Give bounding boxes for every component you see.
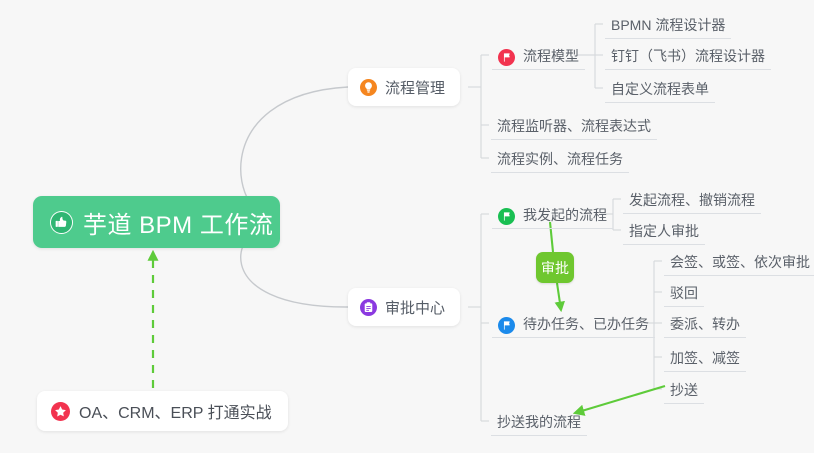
node-cc[interactable]: 抄送 <box>664 376 704 404</box>
node-process-model[interactable]: 流程模型 <box>492 42 585 70</box>
star-icon <box>51 402 70 421</box>
approval-tag: 审批 <box>536 252 574 283</box>
branch-process-management-label: 流程管理 <box>385 77 445 98</box>
lightbulb-icon <box>360 79 377 96</box>
node-add-remove-sign[interactable]: 加签、减签 <box>664 344 746 372</box>
thumbs-up-icon <box>50 211 73 234</box>
flag-icon <box>498 208 515 225</box>
arrow-approval-lower <box>557 283 561 310</box>
node-dingtalk-designer[interactable]: 钉钉（飞书）流程设计器 <box>605 42 771 70</box>
node-todo-done-tasks-label: 待办任务、已办任务 <box>523 314 649 334</box>
node-cc-label: 抄送 <box>670 380 698 400</box>
branch-approval-center-label: 审批中心 <box>385 297 445 318</box>
node-designated-approver[interactable]: 指定人审批 <box>623 217 705 245</box>
mindmap-canvas: 芋道 BPM 工作流 流程管理 流程模型 BPMN 流程设计器 钉钉（飞书）流程… <box>0 0 814 453</box>
node-reject-label: 驳回 <box>670 283 698 303</box>
node-my-started-processes-label: 我发起的流程 <box>523 205 607 225</box>
node-countersign-modes[interactable]: 会签、或签、依次审批 <box>664 248 814 276</box>
footnote-node[interactable]: OA、CRM、ERP 打通实战 <box>37 391 288 431</box>
node-delegate-transfer-label: 委派、转办 <box>670 314 740 334</box>
node-process-listener-expression-label: 流程监听器、流程表达式 <box>497 116 651 136</box>
clipboard-icon <box>360 299 377 316</box>
arrow-cc-to-cc-my-processes <box>575 386 665 413</box>
root-label: 芋道 BPM 工作流 <box>83 205 273 240</box>
flag-icon <box>498 49 515 66</box>
node-process-instance-task[interactable]: 流程实例、流程任务 <box>491 145 629 173</box>
node-custom-form-label: 自定义流程表单 <box>611 79 709 99</box>
approval-tag-label: 审批 <box>541 258 569 278</box>
node-bpmn-designer[interactable]: BPMN 流程设计器 <box>605 11 731 39</box>
node-bpmn-designer-label: BPMN 流程设计器 <box>611 15 725 35</box>
branch-process-management[interactable]: 流程管理 <box>348 68 460 106</box>
node-process-model-label: 流程模型 <box>523 46 579 66</box>
node-delegate-transfer[interactable]: 委派、转办 <box>664 310 746 338</box>
node-cc-my-processes-label: 抄送我的流程 <box>497 412 581 432</box>
node-my-started-processes[interactable]: 我发起的流程 <box>492 201 613 229</box>
flag-icon <box>498 317 515 334</box>
node-process-listener-expression[interactable]: 流程监听器、流程表达式 <box>491 112 657 140</box>
node-start-cancel-process[interactable]: 发起流程、撤销流程 <box>623 186 761 214</box>
node-countersign-modes-label: 会签、或签、依次审批 <box>670 252 810 272</box>
footnote-label: OA、CRM、ERP 打通实战 <box>79 399 272 423</box>
branch-approval-center[interactable]: 审批中心 <box>348 288 460 326</box>
node-reject[interactable]: 驳回 <box>664 279 704 307</box>
node-designated-approver-label: 指定人审批 <box>629 221 699 241</box>
node-todo-done-tasks[interactable]: 待办任务、已办任务 <box>492 310 655 338</box>
node-dingtalk-designer-label: 钉钉（飞书）流程设计器 <box>611 46 765 66</box>
node-start-cancel-process-label: 发起流程、撤销流程 <box>629 190 755 210</box>
node-add-remove-sign-label: 加签、减签 <box>670 348 740 368</box>
node-process-instance-task-label: 流程实例、流程任务 <box>497 149 623 169</box>
node-cc-my-processes[interactable]: 抄送我的流程 <box>491 408 587 436</box>
root-node[interactable]: 芋道 BPM 工作流 <box>33 196 280 248</box>
node-custom-form[interactable]: 自定义流程表单 <box>605 75 715 103</box>
